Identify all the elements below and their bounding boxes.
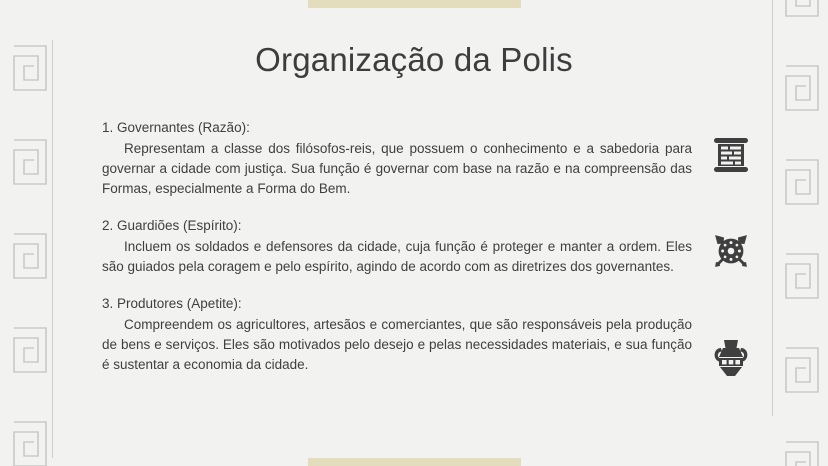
- accent-bar-bottom: [308, 458, 521, 466]
- page-title: Organização da Polis: [64, 40, 764, 80]
- section-paragraph: Incluem os soldados e defensores da cida…: [102, 237, 692, 277]
- greek-meander-border-right: [772, 0, 828, 466]
- amphora-icon: [707, 332, 755, 380]
- greek-meander-border-left: [0, 0, 56, 466]
- section-heading: 2. Guardiões (Espírito):: [102, 216, 692, 236]
- shield-spears-icon: [707, 227, 755, 275]
- section-governantes: 1. Governantes (Razão): Representam a cl…: [102, 118, 692, 199]
- divider-line-left: [52, 40, 53, 458]
- slide-canvas: Organização da Polis 1. Governantes (Raz…: [0, 0, 828, 466]
- section-heading: 1. Governantes (Razão):: [102, 118, 692, 138]
- section-paragraph: Compreendem os agricultores, artesãos e …: [102, 315, 692, 375]
- section-paragraph: Representam a classe dos filósofos-reis,…: [102, 139, 692, 199]
- accent-bar-top: [308, 0, 521, 8]
- section-heading: 3. Produtores (Apetite):: [102, 294, 692, 314]
- section-guardioes: 2. Guardiões (Espírito): Incluem os sold…: [102, 216, 692, 277]
- scroll-icon: [707, 131, 755, 179]
- content-body: 1. Governantes (Razão): Representam a cl…: [102, 118, 692, 375]
- section-produtores: 3. Produtores (Apetite): Compreendem os …: [102, 294, 692, 375]
- divider-line-right: [772, 0, 773, 416]
